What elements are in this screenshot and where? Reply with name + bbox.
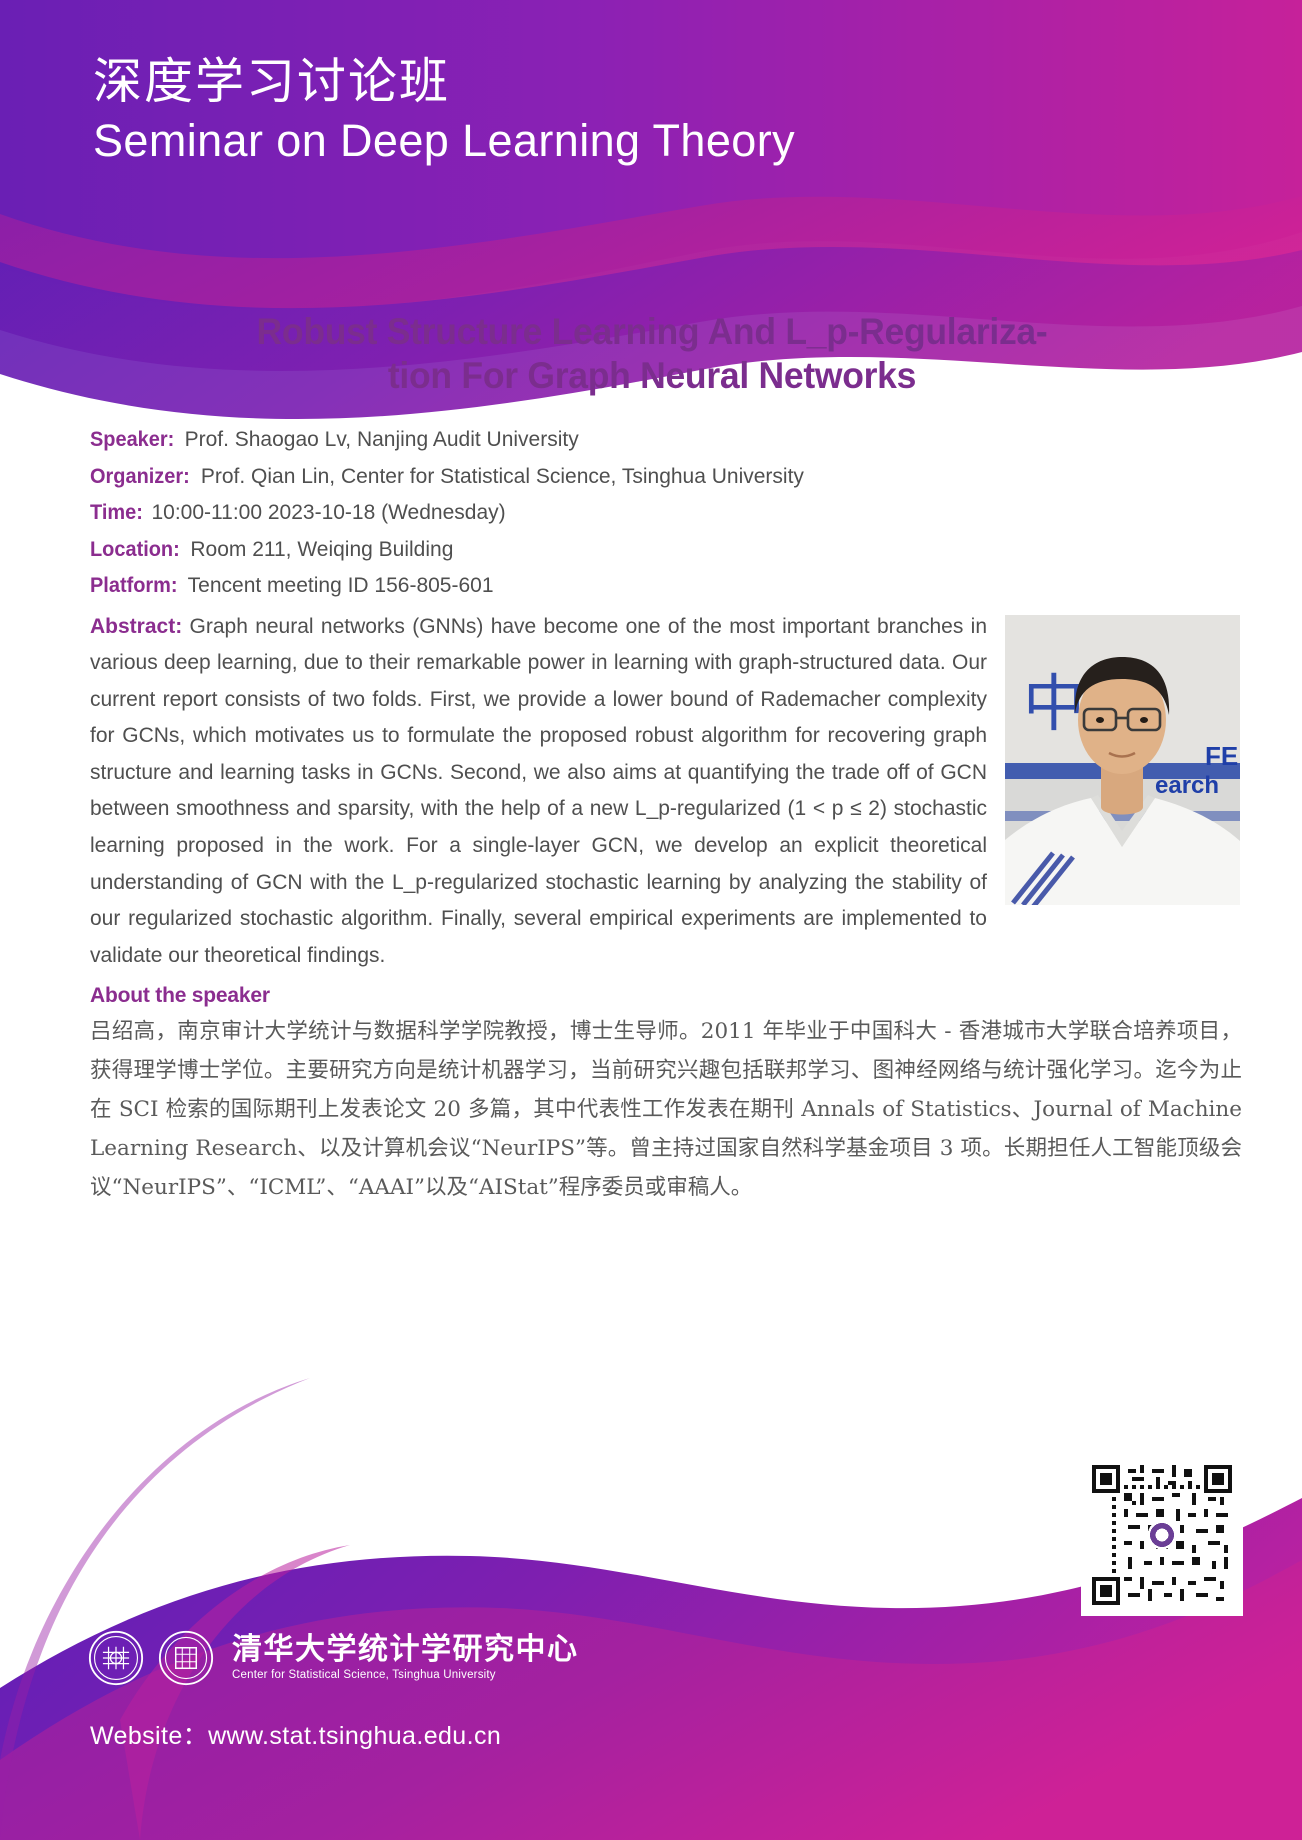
talk-metadata: Speaker: Prof. Shaogao Lv, Nanjing Audit… <box>0 422 1302 605</box>
meta-row-platform: Platform: Tencent meeting ID 156-805-601 <box>90 568 1212 605</box>
organizer-label: Organizer: <box>90 459 190 496</box>
abstract-body: Graph neural networks (GNNs) have become… <box>90 615 987 967</box>
speaker-portrait-image: 中 earch FE <box>1005 615 1240 905</box>
location-value: Room 211, Weiqing Building <box>190 538 453 561</box>
footer-website: Website：www.stat.tsinghua.edu.cn <box>90 1716 501 1752</box>
talk-title-line-2: tion For Graph Neural Networks <box>388 355 916 396</box>
speaker-photo: 中 earch FE <box>1005 615 1240 905</box>
abstract-label: Abstract: <box>90 615 182 638</box>
about-speaker-heading: About the speaker <box>0 984 1302 1008</box>
footer-org-name-en: Center for Statistical Science, Tsinghua… <box>232 1670 579 1682</box>
talk-title-line-1: Robust Structure Learning And L_p-Regula… <box>257 311 1048 352</box>
poster-header: 深度学习讨论班 Seminar on Deep Learning Theory <box>93 52 795 170</box>
talk-title: Robust Structure Learning And L_p-Regula… <box>112 310 1191 398</box>
meta-row-speaker: Speaker: Prof. Shaogao Lv, Nanjing Audit… <box>90 422 1212 459</box>
svg-text:earch: earch <box>1155 772 1219 799</box>
speaker-label: Speaker: <box>90 422 174 459</box>
poster-footer: 清华大学统计学研究中心 Center for Statistical Scien… <box>0 1540 1302 1840</box>
platform-label: Platform: <box>90 568 178 605</box>
meta-row-time: Time: 10:00-11:00 2023-10-18 (Wednesday) <box>90 495 1212 532</box>
tsinghua-seal-icon <box>88 1630 144 1686</box>
footer-org-name-cn: 清华大学统计学研究中心 <box>232 1635 579 1665</box>
qr-code-image <box>1088 1461 1236 1609</box>
footer-logos: 清华大学统计学研究中心 Center for Statistical Scien… <box>88 1630 579 1686</box>
website-label: Website： <box>90 1722 208 1750</box>
header-title-chinese: 深度学习讨论班 <box>93 52 795 112</box>
time-label: Time: <box>90 495 143 532</box>
time-value: 10:00-11:00 2023-10-18 (Wednesday) <box>151 501 505 524</box>
speaker-value: Prof. Shaogao Lv, Nanjing Audit Universi… <box>185 428 579 451</box>
meta-row-organizer: Organizer: Prof. Qian Lin, Center for St… <box>90 459 1212 496</box>
website-url[interactable]: www.stat.tsinghua.edu.cn <box>208 1722 501 1750</box>
header-title-english: Seminar on Deep Learning Theory <box>93 112 795 170</box>
svg-text:FE: FE <box>1205 741 1238 771</box>
location-label: Location: <box>90 532 180 569</box>
about-speaker-bio: 吕绍高，南京审计大学统计与数据科学学院教授，博士生导师。2011 年毕业于中国科… <box>0 1012 1302 1207</box>
organizer-value: Prof. Qian Lin, Center for Statistical S… <box>201 465 804 488</box>
poster-body: Robust Structure Learning And L_p-Regula… <box>0 310 1302 1207</box>
seminar-poster: 深度学习讨论班 Seminar on Deep Learning Theory … <box>0 0 1302 1840</box>
footer-org-name: 清华大学统计学研究中心 Center for Statistical Scien… <box>232 1635 579 1682</box>
meta-row-location: Location: Room 211, Weiqing Building <box>90 532 1212 569</box>
qr-code[interactable] <box>1081 1454 1243 1616</box>
platform-value: Tencent meeting ID 156-805-601 <box>188 574 494 597</box>
abstract-section: 中 earch FE <box>0 609 1302 975</box>
statistics-center-seal-icon <box>158 1630 214 1686</box>
